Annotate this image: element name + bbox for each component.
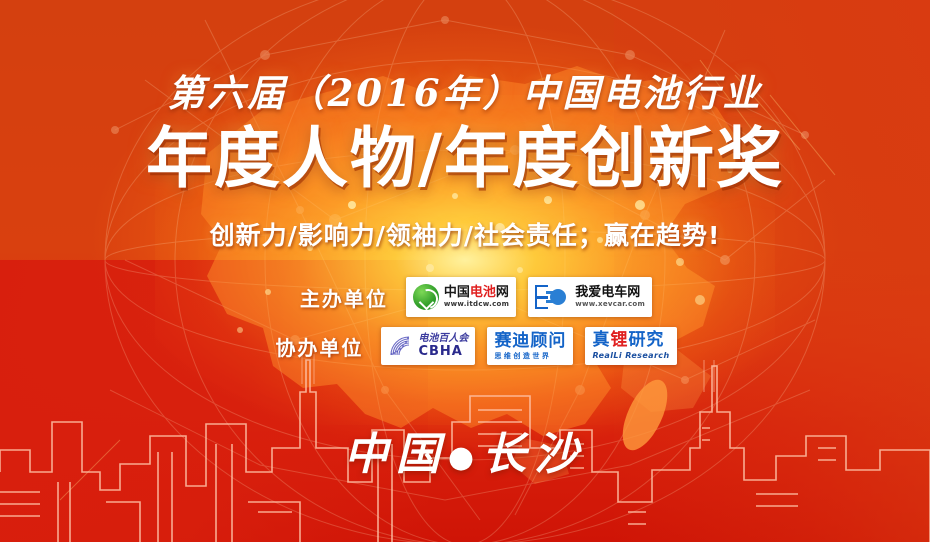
organizer-label: 主办单位 [278, 283, 388, 312]
logo-xevcar-name: 我爱电车网 [575, 286, 645, 299]
event-headline: 第六届（2016年）中国电池行业 [0, 63, 930, 117]
logo-realli-tagline: RealLi Research [592, 352, 669, 360]
logo-xevcar-url: www.xevcar.com [575, 301, 645, 308]
event-location: 中国●长沙 [0, 418, 930, 482]
logo-battery-hundred-association[interactable]: 电池百人会 CBHA [381, 327, 475, 365]
logo-bha-name: 电池百人会 [418, 334, 468, 344]
purple-fan-icon [388, 333, 414, 359]
logo-ccid-tagline: 思维创造世界 [494, 353, 566, 360]
location-country: 中国 [344, 429, 448, 480]
blue-ev-plug-icon [535, 285, 569, 309]
logo-xevcar[interactable]: 我爱电车网 www.xevcar.com [528, 277, 652, 317]
banner-content: 第六届（2016年）中国电池行业 年度人物/年度创新奖 创新力/影响力/领袖力/… [0, 0, 930, 542]
logo-realli-name: 真锂研究 [592, 332, 669, 349]
logo-china-battery-net-url: www.itdcw.com [444, 301, 509, 308]
co-organizer-label: 协办单位 [253, 332, 363, 361]
separator-dot-icon: ● [448, 440, 482, 475]
logo-bha-abbr: CBHA [418, 345, 468, 358]
event-subtitle: 创新力/影响力/领袖力/社会责任；赢在趋势! [0, 216, 930, 252]
sponsor-section: 主办单位 中国电池网 www.itdcw.com 我爱电车网 [0, 277, 930, 375]
logo-china-battery-net-name: 中国电池网 [444, 286, 509, 299]
page-title: 年度人物/年度创新奖 [0, 124, 930, 193]
green-globe-icon [413, 284, 439, 310]
logo-realli-research[interactable]: 真锂研究 RealLi Research [585, 327, 676, 365]
co-organizer-row: 协办单位 [0, 327, 930, 365]
logo-ccid-name: 赛迪顾问 [494, 333, 566, 350]
event-promo-banner: 第六届（2016年）中国电池行业 年度人物/年度创新奖 创新力/影响力/领袖力/… [0, 0, 930, 542]
location-city: 长沙 [482, 429, 586, 480]
logo-china-battery-net[interactable]: 中国电池网 www.itdcw.com [406, 277, 516, 317]
organizer-row: 主办单位 中国电池网 www.itdcw.com 我爱电车网 [0, 277, 930, 317]
logo-ccid-consulting[interactable]: 赛迪顾问 思维创造世界 [487, 327, 573, 365]
